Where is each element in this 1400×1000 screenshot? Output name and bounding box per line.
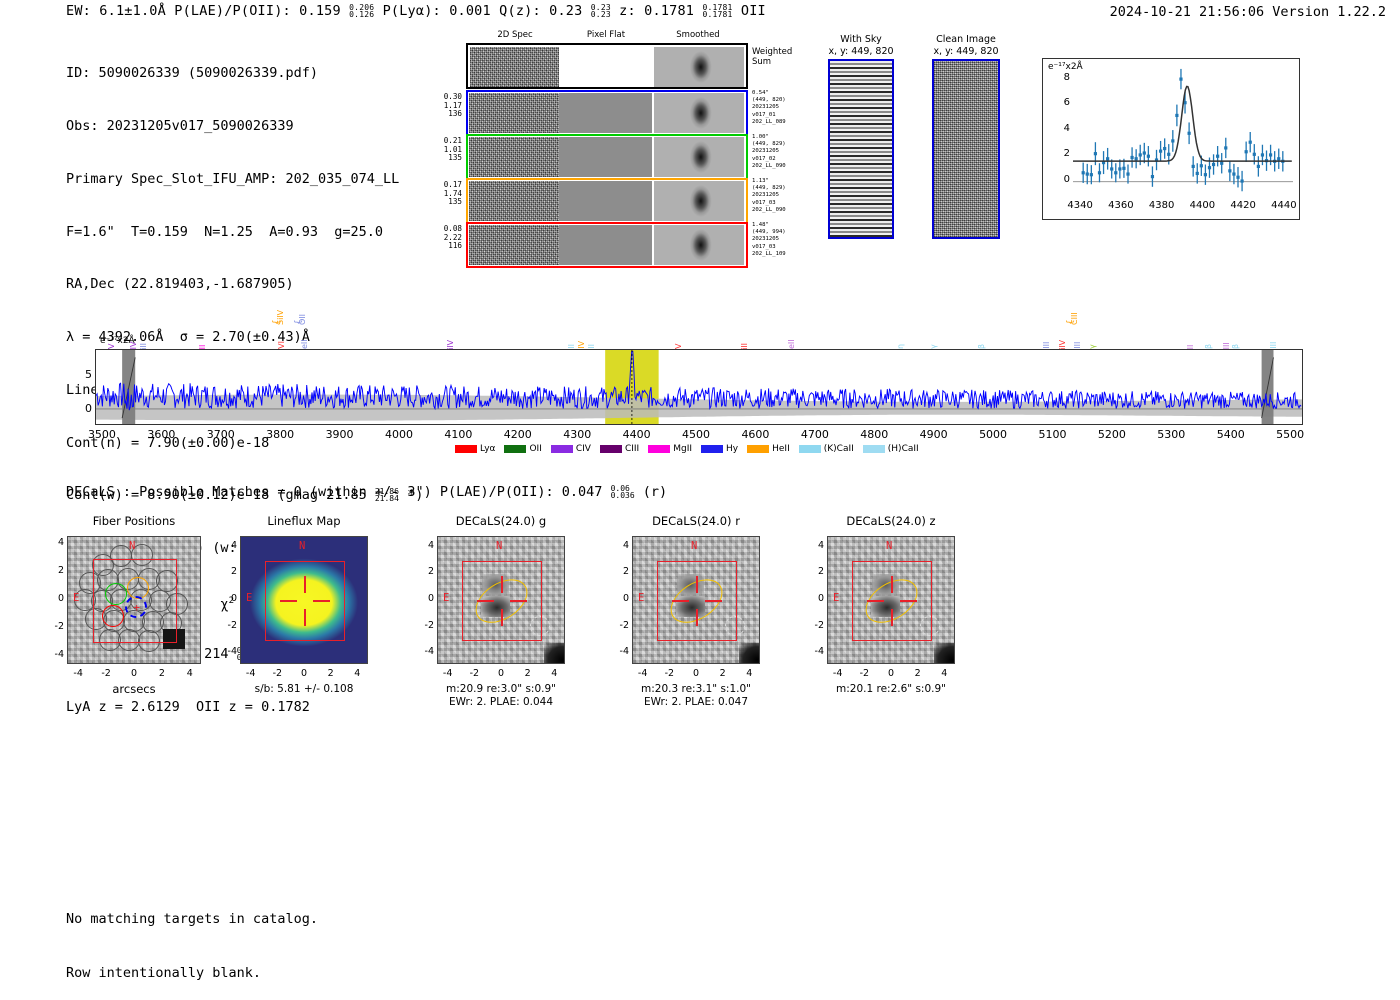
axis-tick-x: 2 [319, 668, 343, 679]
panel-decoration [696, 576, 697, 593]
info-redshifts: LyA z = 2.6129 OII z = 0.1782 [66, 699, 423, 717]
panel-decoration [891, 609, 892, 626]
zoom-line-svg [1043, 59, 1299, 219]
weighted-sum-label: WeightedSum [752, 47, 792, 67]
north-marker: N [129, 540, 135, 552]
axis-tick: 4340 [1063, 200, 1097, 211]
header-summary-line: EW: 6.1±1.0Å P(LAE)/P(OII): 0.159 0.2060… [66, 3, 766, 19]
axis-tick-x: 4 [345, 668, 369, 679]
header-summary-suffix: OII [733, 3, 766, 19]
axis-tick-y: 0 [47, 593, 64, 604]
strip-right-labels: 0.54"(449, 820)20231205v017_01202_LL_089 [752, 90, 786, 126]
panel-decoration [867, 600, 884, 601]
legend-swatch [701, 445, 723, 453]
axis-tick: 3500 [80, 428, 124, 441]
zoom-line-plot [1042, 58, 1300, 220]
legend-label: HeII [772, 444, 790, 454]
axis-tick-x: 4 [178, 668, 202, 679]
axis-tick-x: -4 [66, 668, 90, 679]
panel-title: DECaLS(24.0) g [409, 514, 593, 528]
axis-tick: 4360 [1104, 200, 1138, 211]
axis-tick-x: 4 [932, 668, 956, 679]
legend-swatch [455, 445, 477, 453]
axis-tick-x: -4 [239, 668, 263, 679]
spec-row-strip [466, 222, 748, 268]
header-summary-mid: P(Lyα): 0.001 Q(z): 0.23 [374, 3, 591, 19]
footer-note: No matching targets in catalog. Row inte… [66, 874, 318, 1000]
panel-decoration [544, 643, 565, 664]
two-d-spectra-panel: 2D Spec Pixel Flat Smoothed WeightedSum … [420, 30, 770, 260]
axis-tick: 4100 [436, 428, 480, 441]
axis-tick: 5400 [1209, 428, 1253, 441]
axis-tick-y: 0 [220, 593, 237, 604]
axis-tick-y: -2 [220, 620, 237, 631]
axis-tick: 0 [72, 402, 92, 415]
strip-left-labels: 0.082.22116 [418, 225, 462, 251]
panel-decoration [891, 576, 892, 593]
panel-decoration [705, 600, 722, 601]
legend-item: CIII [600, 444, 639, 454]
panel-title: DECaLS(24.0) r [604, 514, 788, 528]
axis-tick-y: 4 [807, 540, 824, 551]
legend-swatch [551, 445, 573, 453]
info-line: RA,Dec (22.819403,-1.687905) [66, 276, 423, 294]
axis-tick: 4400 [1185, 200, 1219, 211]
strip-right-labels: 1.00"(449, 829)20231205v017_02202_LL_090 [752, 134, 786, 170]
axis-tick: 4600 [733, 428, 777, 441]
panel-image: + [67, 536, 201, 664]
axis-tick-x: -2 [657, 668, 681, 679]
axis-tick: 4700 [793, 428, 837, 441]
aperture-box [462, 561, 542, 641]
axis-tick: 6 [1056, 97, 1070, 108]
info-line: ID: 5090026339 (5090026339.pdf) [66, 65, 423, 83]
aperture-box [657, 561, 737, 641]
axis-tick: 4400 [615, 428, 659, 441]
panel-image [437, 536, 565, 664]
legend-swatch [600, 445, 622, 453]
col-header-2dspec: 2D Spec [472, 30, 558, 40]
axis-tick-y: 0 [417, 593, 434, 604]
axis-tick: 4420 [1226, 200, 1260, 211]
axis-tick: 0 [1056, 174, 1070, 185]
axis-tick-y: 4 [47, 537, 64, 548]
axis-tick-x: 2 [150, 668, 174, 679]
spec-row-strip [466, 178, 748, 224]
panel-image [632, 536, 760, 664]
axis-tick-y: -4 [47, 649, 64, 660]
axis-tick-x: -4 [826, 668, 850, 679]
panel-title: DECaLS(24.0) z [799, 514, 983, 528]
panel-decoration [477, 600, 494, 601]
legend-swatch [648, 445, 670, 453]
axis-tick-y: 2 [47, 565, 64, 576]
legend-item: CIV [551, 444, 591, 454]
panel-decoration [510, 600, 527, 601]
legend-label: Lyα [480, 444, 495, 454]
axis-tick-x: 0 [292, 668, 316, 679]
axis-tick-x: 0 [879, 668, 903, 679]
axis-tick-y: 4 [417, 540, 434, 551]
panel-title: Fiber Positions [39, 514, 229, 528]
axis-tick-x: -4 [436, 668, 460, 679]
axis-tick: 3800 [258, 428, 302, 441]
legend-label: CIII [625, 444, 639, 454]
axis-tick-x: -2 [462, 668, 486, 679]
legend-swatch [799, 445, 821, 453]
col-header-pixelflat: Pixel Flat [560, 30, 652, 40]
axis-tick: 4500 [674, 428, 718, 441]
footer-line-2: Row intentionally blank. [66, 964, 318, 982]
legend-label: (H)CaII [888, 444, 919, 454]
axis-tick: 3700 [199, 428, 243, 441]
panel-decoration [304, 576, 305, 593]
axis-tick: 5500 [1268, 428, 1312, 441]
east-marker: E [246, 592, 252, 604]
zoom-plot-units-label: e⁻¹⁷x2Å [1048, 62, 1083, 72]
panel-caption-1: m:20.3 re:3.1" s:1.0" [592, 683, 800, 696]
panel-decoration [672, 600, 689, 601]
axis-tick: 5 [72, 368, 92, 381]
with-sky-title: With Skyx, y: 449, 820 [818, 34, 904, 57]
legend-label: OII [529, 444, 541, 454]
legend-label: MgII [673, 444, 692, 454]
aperture-box [265, 561, 345, 641]
info-line: F=1.6" T=0.159 N=1.25 A=0.93 g=25.0 [66, 224, 423, 242]
axis-tick-x: 0 [489, 668, 513, 679]
strip-right-labels: 1.13"(449, 829)20231205v017_03202_LL_090 [752, 178, 786, 214]
axis-tick: 5300 [1149, 428, 1193, 441]
axis-tick-x: -2 [265, 668, 289, 679]
legend-item: OII [504, 444, 541, 454]
panel-decoration [739, 643, 760, 664]
axis-tick-x: 0 [684, 668, 708, 679]
axis-tick: 4000 [377, 428, 421, 441]
axis-tick: 2 [1056, 148, 1070, 159]
clean-image-cutout [932, 59, 1000, 239]
panel-decoration [934, 643, 955, 664]
axis-tick-y: -4 [220, 646, 237, 657]
axis-tick: 5100 [1030, 428, 1074, 441]
axis-tick-x: -2 [94, 668, 118, 679]
axis-tick-x: 4 [542, 668, 566, 679]
panel-decoration [313, 600, 330, 601]
panel-caption-1: m:20.9 re:3.0" s:0.9" [397, 683, 605, 696]
legend-label: CIV [576, 444, 591, 454]
axis-tick-y: 2 [612, 566, 629, 577]
axis-tick-x: 4 [737, 668, 761, 679]
spec-row-strip [466, 134, 748, 180]
axis-tick: 4 [1056, 123, 1070, 134]
north-marker: N [886, 540, 892, 552]
decals-header: DECaLS : Possible Matches = 0 (within +/… [66, 484, 667, 500]
axis-tick-y: 4 [612, 540, 629, 551]
axis-tick: 8 [1056, 72, 1070, 83]
axis-tick: 5200 [1090, 428, 1134, 441]
legend-item: Lyα [455, 444, 495, 454]
legend-item: Hy [701, 444, 738, 454]
axis-tick-y: 0 [807, 593, 824, 604]
axis-tick: 4440 [1267, 200, 1301, 211]
col-header-smoothed: Smoothed [654, 30, 742, 40]
axis-tick: 5000 [971, 428, 1015, 441]
axis-tick-y: -2 [47, 621, 64, 632]
axis-tick: 4300 [555, 428, 599, 441]
panel-decoration [501, 576, 502, 593]
weighted-sum-strip [466, 43, 748, 89]
axis-tick-x: -2 [852, 668, 876, 679]
axis-tick: 4200 [496, 428, 540, 441]
north-marker: N [496, 540, 502, 552]
aperture-box [852, 561, 932, 641]
panel-caption-2: EWr: 2. PLAE: 0.047 [592, 696, 800, 709]
panel-caption-2: EWr: 2. PLAE: 0.044 [397, 696, 605, 709]
main-spec-units-label: e⁻¹⁷x2Å [100, 336, 135, 346]
strip-left-labels: 0.211.01135 [418, 137, 462, 163]
axis-tick: 3600 [139, 428, 183, 441]
legend-swatch [504, 445, 526, 453]
axis-tick-y: -4 [417, 646, 434, 657]
info-line: Primary Spec_Slot_IFU_AMP: 202_035_074_L… [66, 171, 423, 189]
header-summary-prefix: EW: 6.1±1.0Å P(LAE)/P(OII): 0.159 [66, 3, 349, 19]
strip-left-labels: 0.301.17136 [418, 93, 462, 119]
east-marker: E [833, 592, 839, 604]
axis-tick-y: -2 [612, 620, 629, 631]
legend-item: (H)CaII [863, 444, 919, 454]
with-sky-cutout [828, 59, 894, 239]
axis-tick-x: 2 [711, 668, 735, 679]
panel-decoration [304, 609, 305, 626]
legend-item: (K)CaII [799, 444, 854, 454]
axis-tick-y: 0 [612, 593, 629, 604]
panel-caption-1: s/b: 5.81 +/- 0.108 [200, 683, 408, 696]
legend-swatch [747, 445, 769, 453]
panel-image [240, 536, 368, 664]
east-marker: E [638, 592, 644, 604]
header-summary-mid2: z: 0.1781 [611, 3, 703, 19]
decals-plae-errors: 0.060.036 [611, 485, 635, 499]
info-line: Obs: 20231205v017_5090026339 [66, 118, 423, 136]
panel-decoration: + [133, 604, 140, 611]
z-errors: 0.17810.1781 [702, 4, 732, 18]
east-marker: E [73, 592, 79, 604]
panel-decoration [900, 600, 917, 601]
clean-image-title: Clean Imagex, y: 449, 820 [920, 34, 1012, 57]
axis-tick-y: 2 [417, 566, 434, 577]
axis-tick-x: -4 [631, 668, 655, 679]
legend-label: (K)CaII [824, 444, 854, 454]
legend-item: MgII [648, 444, 692, 454]
legend-item: HeII [747, 444, 790, 454]
axis-tick-y: -4 [807, 646, 824, 657]
panel-caption-1: m:20.1 re:2.6" s:0.9" [787, 683, 995, 696]
axis-tick: 3900 [318, 428, 362, 441]
axis-tick: 4900 [912, 428, 956, 441]
axis-tick-y: -2 [807, 620, 824, 631]
axis-label-x: arcsecs [47, 683, 221, 696]
axis-tick: 4800 [852, 428, 896, 441]
plae-ratio-errors: 0.2060.126 [349, 4, 374, 18]
east-marker: E [443, 592, 449, 604]
north-marker: N [299, 540, 305, 552]
panel-decoration [501, 609, 502, 626]
spectrum-legend: LyαOIICIVCIIIMgIIHyHeII(K)CaII(H)CaII [455, 444, 928, 454]
footer-line-1: No matching targets in catalog. [66, 910, 318, 928]
axis-tick-y: -2 [417, 620, 434, 631]
axis-tick-y: -4 [612, 646, 629, 657]
panel-title: Lineflux Map [212, 514, 396, 528]
axis-tick: 4380 [1145, 200, 1179, 211]
full-spectrum-plot [95, 349, 1303, 425]
legend-swatch [863, 445, 885, 453]
axis-tick-x: 2 [906, 668, 930, 679]
panel-image [827, 536, 955, 664]
axis-tick-y: 2 [807, 566, 824, 577]
panel-decoration [280, 600, 297, 601]
north-marker: N [691, 540, 697, 552]
strip-left-labels: 0.171.74135 [418, 181, 462, 207]
axis-tick-x: 0 [122, 668, 146, 679]
strip-right-labels: 1.48"(449, 994)20231205v017_03202_LL_109 [752, 222, 786, 258]
axis-tick-y: 4 [220, 540, 237, 551]
full-spectrum-svg [96, 350, 1302, 424]
axis-tick-y: 2 [220, 566, 237, 577]
qz-errors: 0.230.23 [591, 4, 611, 18]
panel-decoration [696, 609, 697, 626]
axis-tick-x: 2 [516, 668, 540, 679]
spec-row-strip [466, 90, 748, 136]
legend-label: Hy [726, 444, 738, 454]
timestamp-version: 2024-10-21 21:56:06 Version 1.22.2 [1110, 4, 1386, 20]
